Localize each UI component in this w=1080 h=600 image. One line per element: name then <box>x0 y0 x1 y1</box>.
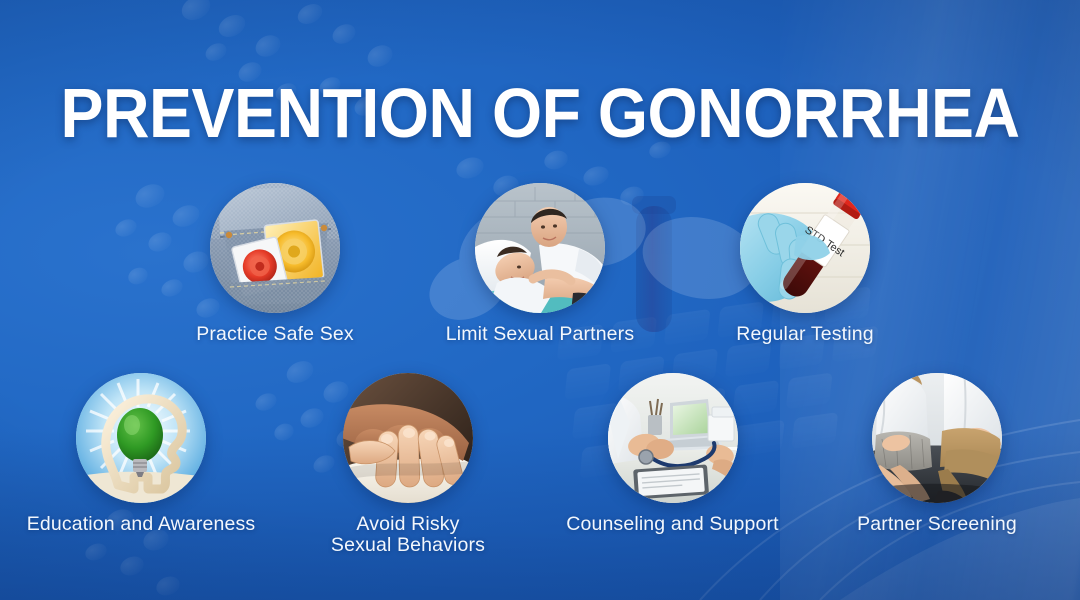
prevention-item-label: Education and Awareness <box>16 514 266 535</box>
couple-seated-waiting-photo <box>872 373 1002 503</box>
prevention-item-label: Avoid Risky Sexual Behaviors <box>318 514 498 556</box>
prevention-item-label: Partner Screening <box>847 514 1027 535</box>
couple-in-bed-photo <box>475 183 605 313</box>
std-test-blood-vial-photo: STD Test <box>740 183 870 313</box>
infographic-poster: PREVENTION OF GONORRHEA <box>0 0 1080 600</box>
prevention-item-label: Limit Sexual Partners <box>442 324 638 345</box>
prevention-item-counseling-and-support[interactable]: Counseling and Support <box>555 373 790 535</box>
prevention-item-label: Practice Safe Sex <box>185 324 365 345</box>
background-vial-shape <box>632 196 676 332</box>
prevention-item-practice-safe-sex[interactable]: Practice Safe Sex <box>185 183 365 345</box>
head-profile-lightbulb-photo <box>76 373 206 503</box>
prevention-item-partner-screening[interactable]: Partner Screening <box>847 373 1027 535</box>
prevention-item-regular-testing[interactable]: STD Test Regular Testing <box>715 183 895 345</box>
doctor-consultation-desk-photo <box>608 373 738 503</box>
prevention-item-label: Regular Testing <box>715 324 895 345</box>
denim-pocket-with-condoms-photo <box>210 183 340 313</box>
page-title: PREVENTION OF GONORRHEA <box>43 78 1037 148</box>
prevention-item-avoid-risky-sexual-behaviors[interactable]: Avoid Risky Sexual Behaviors <box>318 373 498 556</box>
prevention-item-education-and-awareness[interactable]: Education and Awareness <box>16 373 266 535</box>
prevention-item-label: Counseling and Support <box>555 514 790 535</box>
prevention-item-limit-sexual-partners[interactable]: Limit Sexual Partners <box>442 183 638 345</box>
clasped-hands-photo <box>343 373 473 503</box>
